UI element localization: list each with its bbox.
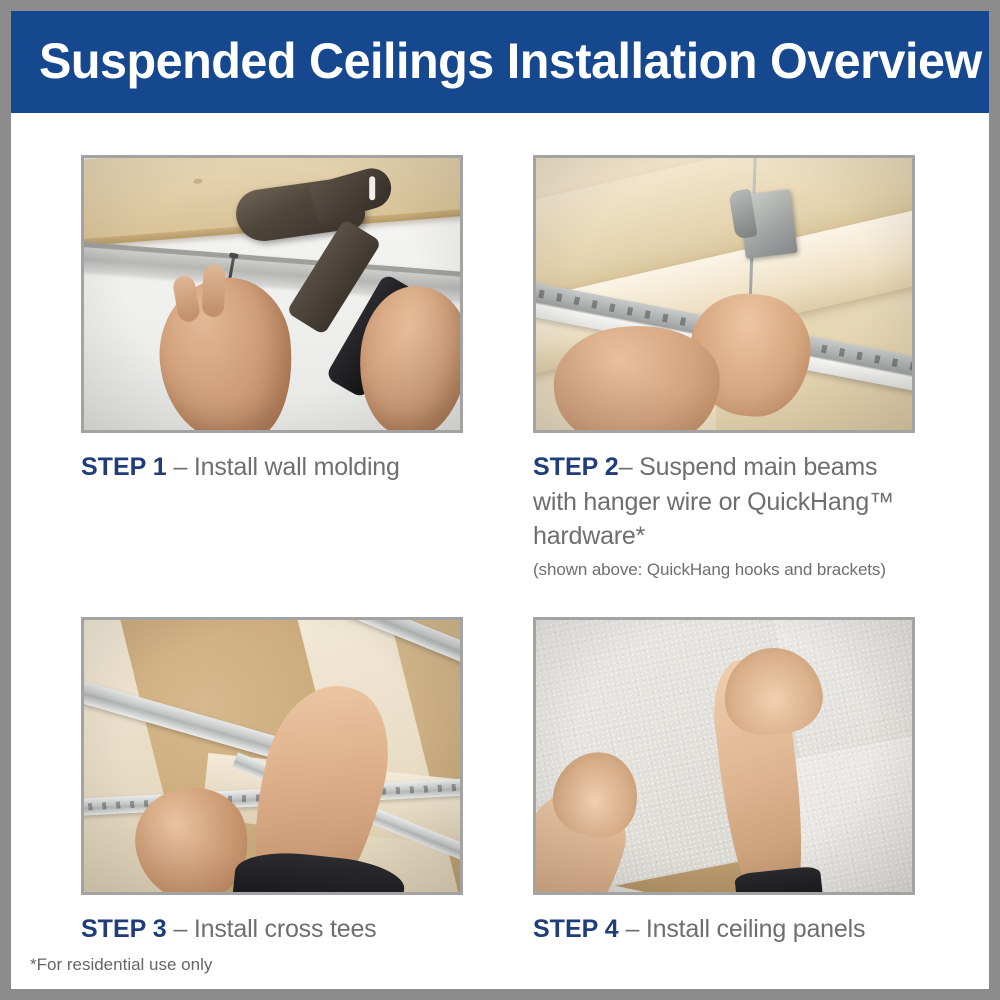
footnote: *For residential use only [30, 955, 212, 975]
page-title: Suspended Ceilings Installation Overview [39, 36, 989, 86]
step-4-photo-frame [533, 617, 915, 895]
step-2-caption: STEP 2– Suspend main beams with hanger w… [533, 450, 925, 554]
page-title-text: Suspended Ceilings Installation Overview [39, 36, 982, 86]
step-1-caption: STEP 1 – Install wall molding [81, 450, 469, 485]
step-2-label: STEP 2 [533, 453, 619, 481]
step-2-block: STEP 2– Suspend main beams with hanger w… [533, 155, 925, 580]
step-2-photo [536, 158, 912, 430]
step-3-description: – Install cross tees [167, 915, 377, 943]
step-1-label: STEP 1 [81, 453, 167, 481]
step-2-note: (shown above: QuickHang hooks and bracke… [533, 560, 925, 580]
step-4-block: STEP 4 – Install ceiling panels [533, 617, 925, 947]
step-3-caption: STEP 3 – Install cross tees [81, 912, 469, 947]
step-2-photo-frame [533, 155, 915, 433]
finger [202, 265, 226, 318]
step-1-photo [84, 158, 460, 430]
step-4-description: – Install ceiling panels [619, 915, 866, 943]
content-sheet: Suspended Ceilings Installation Overview [11, 11, 989, 989]
step-4-photo [536, 620, 912, 892]
header-bar: Suspended Ceilings Installation Overview [11, 11, 989, 113]
step-4-label: STEP 4 [533, 915, 619, 943]
step-3-photo [84, 620, 460, 892]
step-3-block: STEP 3 – Install cross tees [81, 617, 469, 947]
step-3-photo-frame [81, 617, 463, 895]
step-4-caption: STEP 4 – Install ceiling panels [533, 912, 925, 947]
wood-knot-icon [193, 178, 202, 184]
step-1-description: – Install wall molding [167, 453, 400, 481]
step-1-block: STEP 1 – Install wall molding [81, 155, 469, 485]
step-1-photo-frame [81, 155, 463, 433]
step-3-label: STEP 3 [81, 915, 167, 943]
page-root: Suspended Ceilings Installation Overview [0, 0, 1000, 1000]
